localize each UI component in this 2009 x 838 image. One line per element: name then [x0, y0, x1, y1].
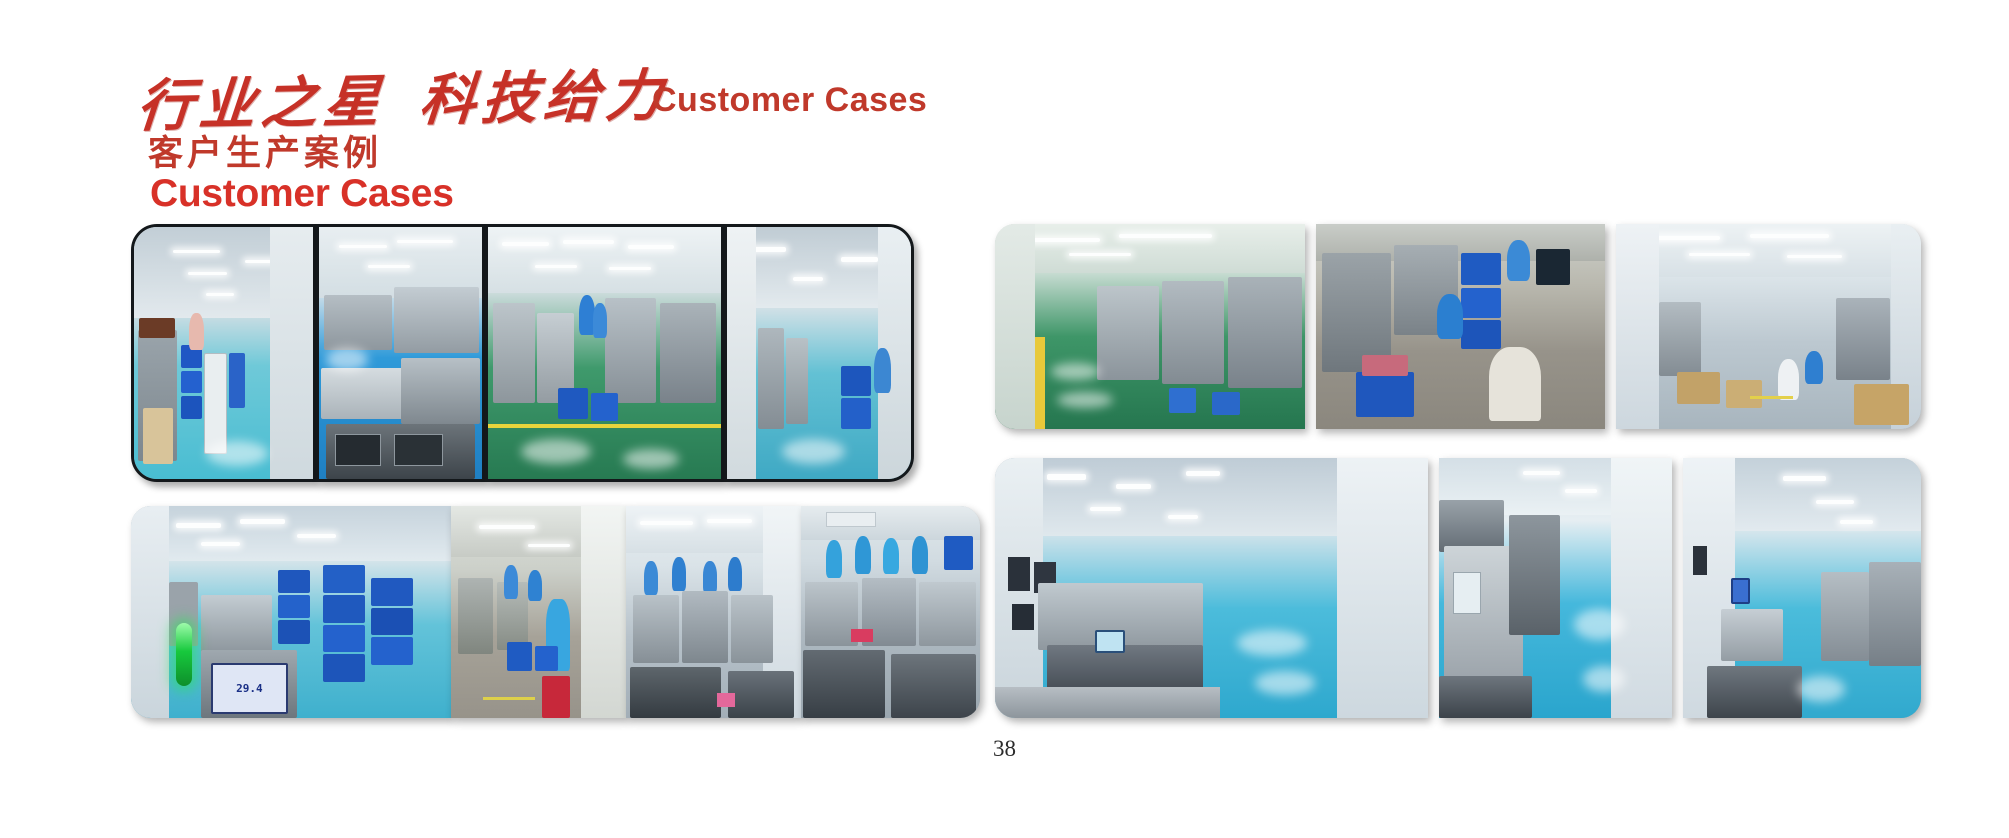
photo-br-3-scene — [1683, 458, 1921, 718]
photo-bl-1[interactable]: 29.4 — [131, 506, 451, 718]
top-left-cluster — [131, 224, 980, 482]
calligraphy-title-part-2: 科技给力 — [417, 62, 671, 133]
photo-tr-3[interactable] — [1616, 224, 1921, 429]
photo-bl-2-scene — [451, 506, 626, 718]
photo-tl-4[interactable] — [724, 224, 914, 482]
page-number: 38 — [0, 736, 2009, 762]
photo-tl-3[interactable] — [485, 224, 724, 482]
photo-tl-1[interactable] — [131, 224, 316, 482]
photo-br-3[interactable] — [1683, 458, 1921, 718]
bottom-right-cluster — [995, 458, 1910, 718]
photo-bl-1-scene: 29.4 — [131, 506, 451, 718]
header-english-title: Customer Cases — [652, 81, 927, 120]
photo-tr-1[interactable] — [995, 224, 1305, 429]
subtitle-chinese: 客户生产案例 — [148, 125, 382, 176]
subtitle-english: Customer Cases — [150, 172, 454, 216]
photo-tl-3-scene — [488, 227, 721, 479]
photo-tl-2-scene — [319, 227, 482, 479]
top-right-cluster — [995, 224, 1910, 429]
photo-br-2-scene — [1439, 458, 1672, 718]
photo-tr-2-scene — [1316, 224, 1605, 429]
photo-bl-3-scene — [626, 506, 801, 718]
tower-lamp-green — [176, 623, 192, 687]
photo-tl-4-scene — [727, 227, 911, 479]
photo-br-2[interactable] — [1439, 458, 1672, 718]
bottom-left-cluster: 29.4 — [131, 506, 980, 718]
presentation-slide: 行业之星科技给力 Customer Cases 客户生产案例 Customer … — [0, 0, 2009, 838]
hmi-display-value: 29.4 — [211, 663, 288, 714]
photo-bl-3[interactable] — [626, 506, 801, 718]
photo-tr-1-scene — [995, 224, 1305, 429]
photo-bl-4-scene — [801, 506, 980, 718]
photo-br-1-scene — [995, 458, 1428, 718]
photo-br-1[interactable] — [995, 458, 1428, 718]
photo-bl-4[interactable] — [801, 506, 980, 718]
photo-tr-3-scene — [1616, 224, 1921, 429]
photo-bl-2[interactable] — [451, 506, 626, 718]
photo-tl-2[interactable] — [316, 224, 485, 482]
slide-header: 行业之星科技给力 Customer Cases 客户生产案例 Customer … — [0, 0, 2009, 215]
photo-tl-1-scene — [134, 227, 313, 479]
photo-tr-2[interactable] — [1316, 224, 1605, 429]
